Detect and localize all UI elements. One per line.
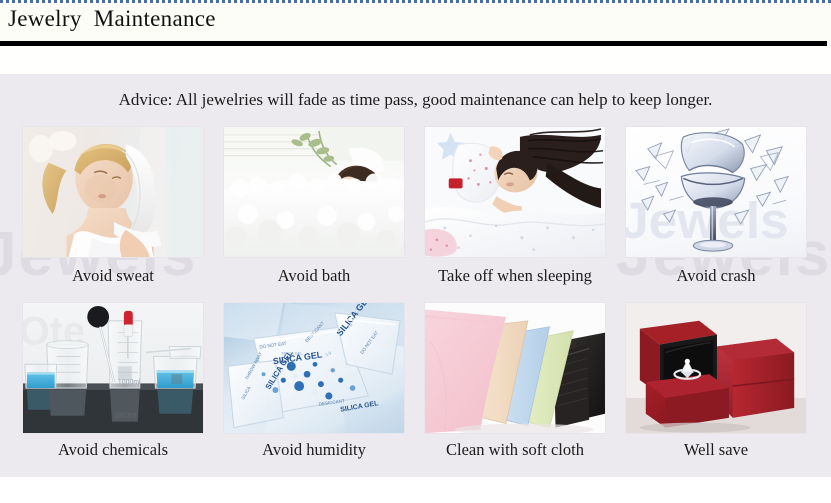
care-tip-card: Jewels: [621, 126, 811, 285]
care-tip-card: Well save: [621, 302, 811, 459]
content-panel: Jewels Jewels Advice: All jewelries will…: [0, 74, 831, 477]
woman-sleeping-in-bed-image: [424, 126, 606, 258]
svg-text:1000ml: 1000ml: [118, 379, 141, 386]
care-tip-caption: Avoid chemicals: [18, 441, 208, 459]
care-tip-caption: Avoid bath: [219, 267, 409, 285]
jewelry-maintenance-page: Jewelry Maintenance Jewels Jewels Advice…: [0, 0, 831, 503]
care-tip-grid-row-1: Avoid sweat: [18, 126, 813, 285]
care-tip-card: SILICA GEL SILICA GEL SILICA GEL SILICA …: [219, 302, 409, 459]
red-jewelry-box-with-diamond-ring-image: [625, 302, 807, 434]
laboratory-beakers-with-blue-liquid-image: Ote 1000ml: [22, 302, 204, 434]
care-tip-caption: Take off when sleeping: [420, 267, 610, 285]
silica-gel-desiccant-packets-image: SILICA GEL SILICA GEL SILICA GEL SILICA …: [223, 302, 405, 434]
care-tip-caption: Well save: [621, 441, 811, 459]
person-in-bubble-bath-image: [223, 126, 405, 258]
silica-gel-illustration: SILICA GEL SILICA GEL SILICA GEL SILICA …: [224, 303, 404, 434]
footer-spacer: [0, 477, 831, 503]
care-tip-grid-row-2: Ote 1000ml: [18, 302, 813, 459]
stacked-pastel-polishing-cloths-image: [424, 302, 606, 434]
advice-text: Advice: All jewelries will fade as time …: [0, 90, 831, 110]
soft-cloth-illustration: [425, 303, 605, 434]
shattering-wine-glass-image: Jewels: [625, 126, 807, 258]
page-title: Jewelry Maintenance: [8, 6, 216, 32]
ring-box-illustration: [626, 303, 806, 434]
care-tip-caption: Clean with soft cloth: [420, 441, 610, 459]
broken-glass-illustration: Jewels: [626, 127, 806, 258]
care-tip-caption: Avoid sweat: [18, 267, 208, 285]
care-tip-caption: Avoid humidity: [219, 441, 409, 459]
svg-text:SILICA GEL: SILICA GEL: [281, 350, 303, 355]
woman-wiping-sweat-with-towel-image: [22, 126, 204, 258]
care-tip-card: Ote 1000ml: [18, 302, 208, 459]
header-spacer: [0, 46, 831, 74]
beakers-illustration: Ote 1000ml: [23, 303, 203, 434]
bath-illustration: [224, 127, 404, 258]
sweat-illustration: [23, 127, 203, 258]
care-tip-caption: Avoid crash: [621, 267, 811, 285]
sleeping-illustration: [425, 127, 605, 258]
care-tip-card: Clean with soft cloth: [420, 302, 610, 459]
care-tip-card: Take off when sleeping: [420, 126, 610, 285]
care-tip-card: Avoid sweat: [18, 126, 208, 285]
care-tip-card: Avoid bath: [219, 126, 409, 285]
svg-text:1000ml: 1000ml: [114, 413, 137, 420]
page-header: Jewelry Maintenance: [0, 4, 831, 42]
